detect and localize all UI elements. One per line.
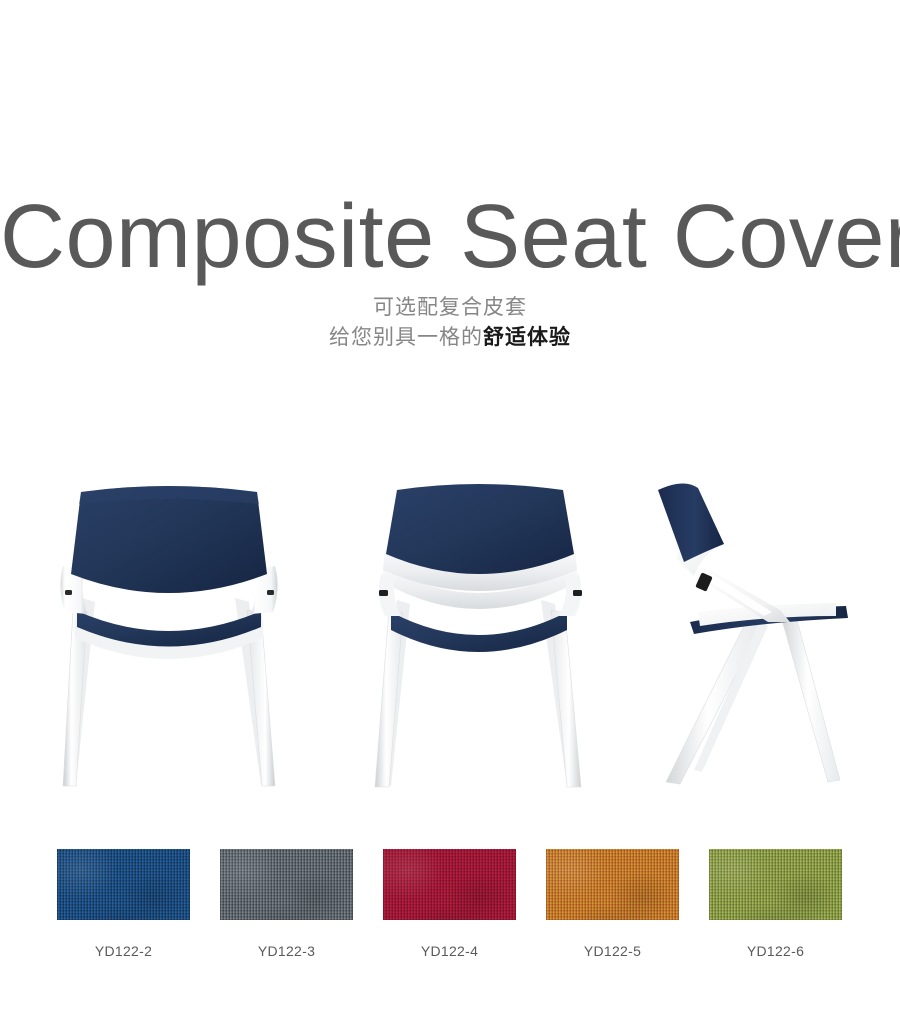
chair-hinge-left bbox=[65, 590, 72, 595]
fabric-swatch-4[interactable]: YD122-6 bbox=[709, 849, 842, 959]
page-title: Composite Seat Covers bbox=[0, 190, 900, 285]
fabric-swatch-row: YD122-2 YD122-3 YD122-4 YD122-5 YD122-6 bbox=[0, 849, 900, 969]
fabric-chip-3[interactable] bbox=[546, 849, 679, 920]
chair-backrest bbox=[71, 486, 267, 593]
fabric-chip-1[interactable] bbox=[220, 849, 353, 920]
fabric-swatch-0[interactable]: YD122-2 bbox=[57, 849, 190, 959]
subtitle-line-2: 给您别具一格的舒适体验 bbox=[0, 323, 900, 353]
product-gallery bbox=[0, 470, 900, 800]
fabric-swatch-1[interactable]: YD122-3 bbox=[220, 849, 353, 959]
chair-leg-rear bbox=[666, 618, 760, 784]
fabric-chip-2[interactable] bbox=[383, 849, 516, 920]
chair-leg-front bbox=[782, 616, 840, 782]
subtitle-line-2-normal: 给您别具一格的 bbox=[329, 326, 483, 349]
subtitle-line-2-emphasis: 舒适体验 bbox=[483, 326, 571, 349]
chair-side-view bbox=[640, 470, 890, 800]
chair-back-view bbox=[345, 470, 615, 800]
subtitle-line-1: 可选配复合皮套 bbox=[0, 293, 900, 323]
chair-hinge-left bbox=[379, 590, 388, 596]
chair-front-view bbox=[35, 470, 305, 800]
fabric-chip-4[interactable] bbox=[709, 849, 842, 920]
chair-hinge-right bbox=[267, 590, 274, 595]
fabric-label-1: YD122-3 bbox=[220, 943, 353, 959]
fabric-label-2: YD122-4 bbox=[383, 943, 516, 959]
fabric-label-4: YD122-6 bbox=[709, 943, 842, 959]
product-page: Composite Seat Covers 可选配复合皮套 给您别具一格的舒适体… bbox=[0, 0, 900, 1033]
subtitle-block: 可选配复合皮套 给您别具一格的舒适体验 bbox=[0, 293, 900, 353]
fabric-chip-0[interactable] bbox=[57, 849, 190, 920]
chair-hinge-right bbox=[573, 590, 582, 596]
fabric-label-0: YD122-2 bbox=[57, 943, 190, 959]
chair-backrest bbox=[658, 483, 724, 562]
fabric-label-3: YD122-5 bbox=[546, 943, 679, 959]
fabric-swatch-3[interactable]: YD122-5 bbox=[546, 849, 679, 959]
chair-backrest-panel bbox=[386, 484, 574, 574]
chair-seat-cushion bbox=[391, 612, 567, 652]
fabric-swatch-2[interactable]: YD122-4 bbox=[383, 849, 516, 959]
chair-leg-rear-far bbox=[694, 620, 768, 772]
